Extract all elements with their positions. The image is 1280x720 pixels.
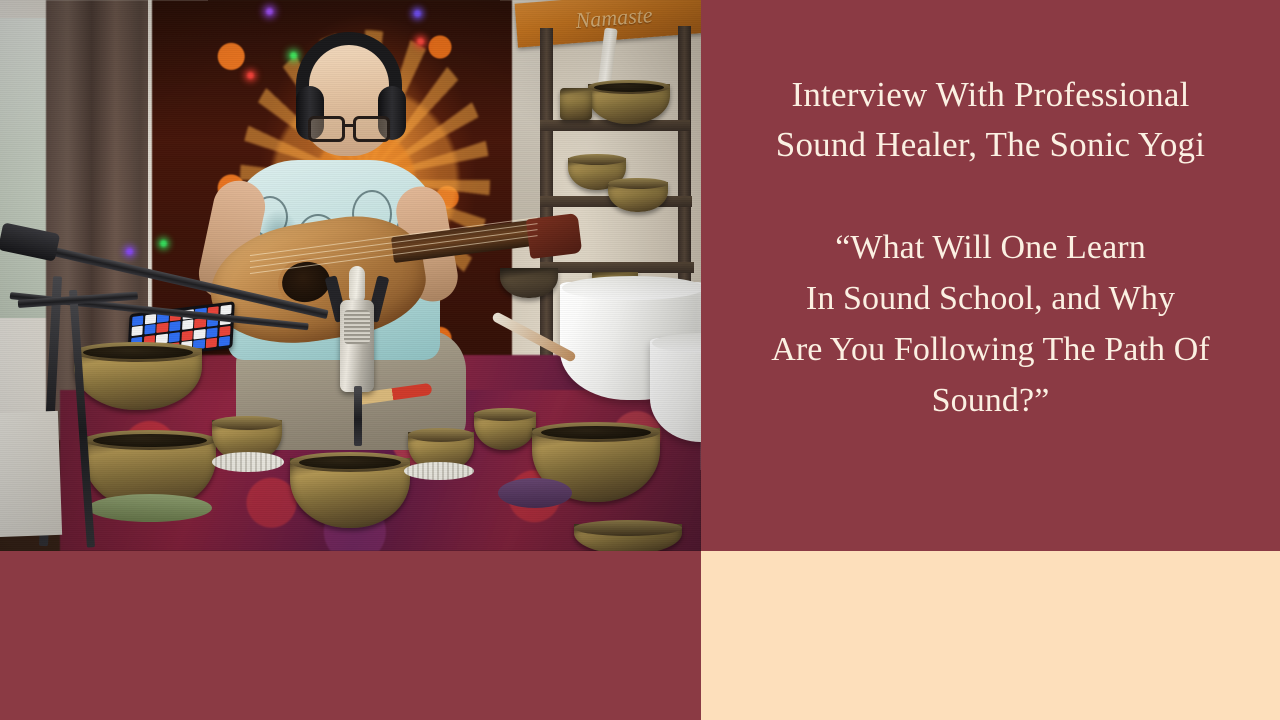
bowl-cushion-white-2 xyxy=(404,462,474,480)
fairy-light-green-2 xyxy=(160,240,167,247)
sound-healer-photo: Namaste xyxy=(0,0,701,551)
text-panel: Interview With Professional Sound Healer… xyxy=(701,0,1280,551)
fairy-light-red-2 xyxy=(247,72,254,79)
fairy-light-red xyxy=(417,38,424,45)
floor-bowl-small-2-inner xyxy=(299,456,401,469)
led-cell xyxy=(169,332,181,342)
led-cell xyxy=(131,326,143,336)
headline-line-1: Interview With Professional xyxy=(711,70,1271,120)
bowl-cushion-purple xyxy=(498,478,572,508)
quote-block: “What Will One Learn In Sound School, an… xyxy=(703,222,1278,426)
quote-line-1: “What Will One Learn xyxy=(703,222,1278,273)
fairy-light-blue xyxy=(414,10,421,17)
headline-line-2: Sound Healer, The Sonic Yogi xyxy=(711,120,1271,170)
fairy-light-green xyxy=(290,52,297,59)
led-cell xyxy=(219,326,231,336)
shelf-bowl-large-inner xyxy=(594,83,664,92)
slide-canvas: Namaste xyxy=(0,0,1280,720)
mic-capsule-top xyxy=(349,266,365,304)
headline: Interview With Professional Sound Healer… xyxy=(711,70,1271,170)
floor-bowl-bottom-edge-rim xyxy=(574,520,682,536)
bowl-cushion-white xyxy=(212,452,284,472)
floor-bowl-small-4-rim xyxy=(474,408,536,421)
led-cell xyxy=(194,329,206,339)
led-cell xyxy=(181,330,193,340)
led-cell xyxy=(169,321,181,331)
crystal-singing-bowl-large-lip xyxy=(562,276,701,300)
led-cell xyxy=(144,324,156,334)
floor-bowl-front-large-inner xyxy=(93,434,207,447)
quote-line-4: Sound?” xyxy=(703,375,1278,426)
bottom-right-color-block xyxy=(701,551,1280,720)
floor-bowl-medium-right-inner xyxy=(541,426,651,439)
quote-line-3: Are You Following The Path Of xyxy=(703,324,1278,375)
led-cell xyxy=(194,318,206,328)
quote-line-2: In Sound School, and Why xyxy=(703,273,1278,324)
floor-bowl-small-1-rim xyxy=(212,416,282,430)
led-cell xyxy=(182,320,194,330)
led-cell xyxy=(206,338,218,348)
eyeglasses-lens-right xyxy=(353,116,390,142)
shelf-bowl-small-left xyxy=(560,88,592,120)
floor-bowl-small-3-rim xyxy=(408,428,474,442)
shelf-bowl-mid-rim xyxy=(568,154,626,165)
bowl-cushion-green xyxy=(88,494,212,522)
bottom-left-color-block xyxy=(0,551,701,720)
eyeglasses-lens-left xyxy=(308,116,345,142)
floor-bowl-back-large-inner xyxy=(83,346,193,359)
led-cell xyxy=(132,315,144,325)
fairy-light-purple-2 xyxy=(126,248,133,255)
led-cell xyxy=(206,327,218,337)
mic-grille xyxy=(344,310,370,344)
mic-stand-center-pole xyxy=(354,386,362,446)
fairy-light-purple xyxy=(266,8,273,15)
shelf-bowl-right-rim xyxy=(608,178,668,189)
eyeglasses-bridge xyxy=(345,124,355,127)
led-cell xyxy=(145,314,157,324)
white-panel-box xyxy=(0,411,62,537)
led-cell xyxy=(157,323,169,333)
led-cell xyxy=(218,336,230,346)
